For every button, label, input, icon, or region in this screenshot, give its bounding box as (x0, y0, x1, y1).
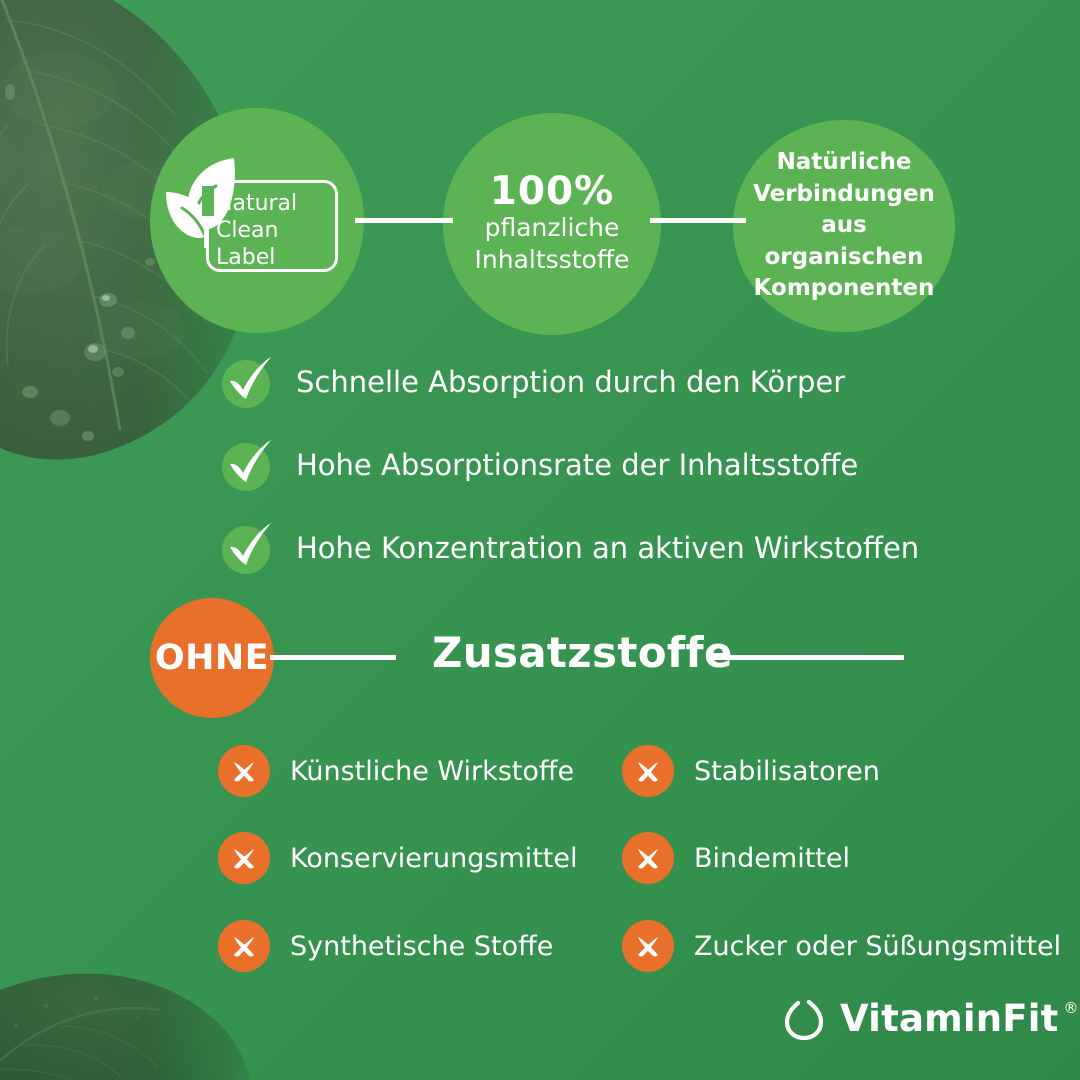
benefit-label: Hohe Absorptionsrate der Inhaltsstoffe (296, 448, 858, 482)
exclusion-label: Bindemittel (694, 843, 850, 874)
clean-label-frame-gap (202, 186, 214, 216)
exclusion-item: Stabilisatoren (622, 742, 880, 800)
feature-badges-row: Natural Clean Label 100% pflanzliche Inh… (0, 108, 1080, 348)
organic-line-2: Verbindungen (733, 179, 955, 211)
clean-label-mark: Natural Clean Label (162, 156, 352, 286)
droplet-outline-icon (782, 995, 826, 1041)
check-glyph (218, 350, 278, 410)
clean-label-line-2: Clean Label (216, 217, 334, 271)
plant-based-text: 100% pflanzliche Inhaltsstoffe (475, 172, 630, 277)
benefit-item: Schnelle Absorption durch den Körper (218, 352, 845, 412)
x-glyph (226, 928, 262, 964)
badge-connector-line-1 (355, 218, 453, 223)
exclusion-label: Stabilisatoren (694, 756, 880, 787)
exclusion-label: Synthetische Stoffe (290, 931, 553, 962)
x-icon (218, 920, 270, 972)
x-glyph (226, 753, 262, 789)
exclusion-item: Zucker oder Süßungsmittel (622, 917, 1061, 975)
benefit-item: Hohe Absorptionsrate der Inhaltsstoffe (218, 435, 858, 495)
ohne-label: OHNE (155, 638, 269, 678)
brand-logo[interactable]: VitaminFit ® (782, 995, 1079, 1041)
x-glyph (630, 928, 666, 964)
logo-trademark: ® (1064, 999, 1079, 1017)
ohne-rule-left (270, 655, 396, 660)
logo-wordmark: VitaminFit (840, 997, 1059, 1040)
badge-natural-clean-label[interactable]: Natural Clean Label (150, 108, 364, 333)
x-glyph (630, 753, 666, 789)
x-icon (622, 920, 674, 972)
plant-based-line-1: pflanzliche (475, 212, 630, 244)
check-glyph (218, 433, 278, 493)
exclusion-item: Künstliche Wirkstoffe (218, 742, 574, 800)
exclusion-item: Bindemittel (622, 829, 850, 887)
exclusion-label: Zucker oder Süßungsmittel (694, 931, 1061, 962)
organic-line-3: aus organischen (733, 210, 955, 273)
x-icon (622, 745, 674, 797)
exclusion-item: Konservierungsmittel (218, 829, 577, 887)
benefit-label: Hohe Konzentration an aktiven Wirkstoffe… (296, 531, 919, 565)
organic-line-1: Natürliche (733, 147, 955, 179)
badge-plant-based[interactable]: 100% pflanzliche Inhaltsstoffe (443, 113, 661, 335)
x-icon (218, 832, 270, 884)
without-additives-header: OHNE Zusatzstoffe (0, 598, 1080, 718)
clean-label-line-1: Natural (216, 190, 334, 217)
organic-line-4: Komponenten (733, 273, 955, 305)
badge-connector-line-2 (650, 218, 746, 223)
clean-label-text: Natural Clean Label (216, 190, 334, 271)
check-icon (218, 437, 274, 493)
check-icon (218, 354, 274, 410)
ohne-badge[interactable]: OHNE (150, 598, 274, 718)
check-glyph (218, 516, 278, 576)
exclusion-label: Künstliche Wirkstoffe (290, 756, 574, 787)
organic-text: Natürliche Verbindungen aus organischen … (733, 147, 955, 305)
x-glyph (630, 840, 666, 876)
x-icon (622, 832, 674, 884)
ohne-rule-right (710, 655, 904, 660)
plant-based-headline: 100% (475, 172, 630, 213)
check-icon (218, 520, 274, 576)
plant-based-line-2: Inhaltsstoffe (475, 244, 630, 276)
benefit-item: Hohe Konzentration an aktiven Wirkstoffe… (218, 518, 919, 578)
x-icon (218, 745, 270, 797)
exclusion-label: Konservierungsmittel (290, 843, 577, 874)
badge-organic-compounds[interactable]: Natürliche Verbindungen aus organischen … (733, 120, 955, 332)
x-glyph (226, 840, 262, 876)
exclusion-item: Synthetische Stoffe (218, 917, 553, 975)
benefit-label: Schnelle Absorption durch den Körper (296, 365, 845, 399)
zusatzstoffe-title: Zusatzstoffe (432, 628, 733, 677)
